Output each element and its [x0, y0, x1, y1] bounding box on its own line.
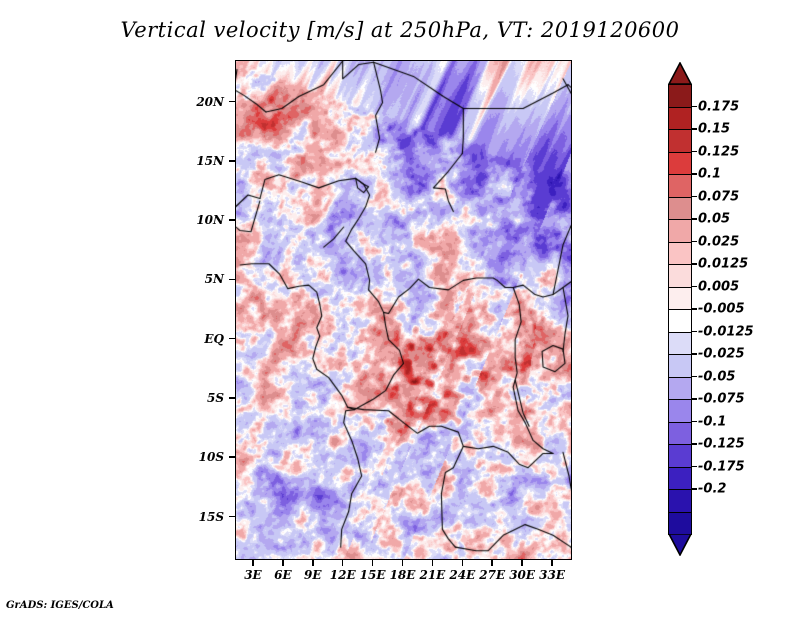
- colorbar-cell: [668, 512, 692, 536]
- colorbar-cell: [668, 287, 692, 311]
- longitude-tick-mark: [282, 560, 284, 566]
- longitude-tick-mark: [491, 560, 493, 566]
- colorbar-tick-mark: [692, 106, 697, 108]
- colorbar-cell: [668, 489, 692, 513]
- latitude-tick-label: 15N: [0, 154, 224, 168]
- colorbar-tick-label: -0.175: [698, 459, 745, 474]
- longitude-tick-label: 30E: [509, 568, 535, 582]
- longitude-tick-label: 24E: [449, 568, 475, 582]
- colorbar-tick-mark: [692, 173, 697, 175]
- colorbar-cell: [668, 219, 692, 243]
- longitude-tick-label: 3E: [244, 568, 262, 582]
- longitude-tick-mark: [342, 560, 344, 566]
- latitude-tick-label: 10N: [0, 213, 224, 227]
- latitude-tick-label: 20N: [0, 95, 224, 109]
- colorbar-tick-mark: [692, 331, 697, 333]
- latitude-tick-mark: [229, 516, 235, 518]
- colorbar-bottom-arrow: [668, 534, 692, 556]
- colorbar-tick-label: 0.025: [698, 234, 739, 249]
- colorbar-cell: [668, 399, 692, 423]
- colorbar-cell: [668, 152, 692, 176]
- colorbar-tick-mark: [692, 443, 697, 445]
- colorbar-cell: [668, 332, 692, 356]
- colorbar-cell: [668, 242, 692, 266]
- colorbar-tick-mark: [692, 398, 697, 400]
- longitude-tick-mark: [551, 560, 553, 566]
- longitude-tick-label: 21E: [419, 568, 445, 582]
- map-plot-area: [235, 60, 572, 560]
- colorbar-tick-mark: [692, 376, 697, 378]
- colorbar-tick-label: 0.1: [698, 167, 721, 182]
- colorbar-cell: [668, 129, 692, 153]
- colorbar-cell: [668, 422, 692, 446]
- colorbar-tick-mark: [692, 353, 697, 355]
- country-borders-overlay: [236, 61, 571, 559]
- longitude-tick-label: 15E: [360, 568, 386, 582]
- longitude-tick-mark: [372, 560, 374, 566]
- colorbar-cell: [668, 467, 692, 491]
- latitude-tick-label: 15S: [0, 510, 224, 524]
- colorbar-cell: [668, 197, 692, 221]
- colorbar-tick-label: 0.175: [698, 99, 739, 114]
- colorbar-cell: [668, 84, 692, 108]
- latitude-tick-label: 5S: [0, 391, 224, 405]
- longitude-tick-mark: [462, 560, 464, 566]
- longitude-tick-label: 12E: [330, 568, 356, 582]
- colorbar-tick-label: 0.005: [698, 279, 739, 294]
- grads-plot-page: Vertical velocity [m/s] at 250hPa, VT: 2…: [0, 0, 800, 618]
- colorbar-tick-label: -0.025: [698, 347, 745, 362]
- colorbar-tick-mark: [692, 466, 697, 468]
- colorbar-tick-mark: [692, 218, 697, 220]
- latitude-tick-label: 5N: [0, 272, 224, 286]
- latitude-tick-label: 10S: [0, 450, 224, 464]
- colorbar-tick-label: 0.0125: [698, 257, 748, 272]
- longitude-tick-label: 18E: [390, 568, 416, 582]
- colorbar-cell: [668, 309, 692, 333]
- grads-attribution: GrADS: IGES/COLA: [6, 600, 114, 611]
- colorbar-tick-label: -0.075: [698, 392, 745, 407]
- colorbar-tick-mark: [692, 241, 697, 243]
- colorbar-tick-mark: [692, 128, 697, 130]
- colorbar-tick-label: 0.125: [698, 144, 739, 159]
- colorbar-cell: [668, 174, 692, 198]
- colorbar-cell: [668, 354, 692, 378]
- longitude-tick-label: 33E: [539, 568, 565, 582]
- latitude-tick-mark: [229, 279, 235, 281]
- colorbar-tick-mark: [692, 196, 697, 198]
- page-title: Vertical velocity [m/s] at 250hPa, VT: 2…: [0, 18, 800, 42]
- latitude-tick-mark: [229, 160, 235, 162]
- longitude-tick-mark: [402, 560, 404, 566]
- colorbar-tick-label: -0.05: [698, 369, 735, 384]
- colorbar-tick-label: -0.125: [698, 437, 745, 452]
- colorbar-cell: [668, 264, 692, 288]
- colorbar-tick-mark: [692, 421, 697, 423]
- colorbar-tick-mark: [692, 308, 697, 310]
- latitude-tick-label: EQ: [0, 332, 224, 346]
- longitude-tick-mark: [312, 560, 314, 566]
- colorbar-tick-label: -0.005: [698, 302, 745, 317]
- latitude-tick-mark: [229, 456, 235, 458]
- colorbar-tick-label: 0.15: [698, 122, 730, 137]
- colorbar-tick-mark: [692, 263, 697, 265]
- colorbar-tick-mark: [692, 488, 697, 490]
- latitude-tick-mark: [229, 397, 235, 399]
- colorbar-tick-mark: [692, 151, 697, 153]
- latitude-tick-mark: [229, 219, 235, 221]
- latitude-tick-mark: [229, 101, 235, 103]
- colorbar-tick-mark: [692, 286, 697, 288]
- longitude-tick-label: 6E: [274, 568, 292, 582]
- colorbar-cell: [668, 107, 692, 131]
- colorbar-tick-label: 0.075: [698, 189, 739, 204]
- colorbar-tick-label: 0.05: [698, 212, 730, 227]
- longitude-tick-mark: [252, 560, 254, 566]
- colorbar-tick-label: -0.2: [698, 482, 726, 497]
- colorbar-cell: [668, 444, 692, 468]
- longitude-tick-mark: [521, 560, 523, 566]
- colorbar-legend: 0.1750.150.1250.10.0750.050.0250.01250.0…: [668, 62, 692, 556]
- colorbar-top-arrow: [668, 62, 692, 84]
- colorbar-cell: [668, 377, 692, 401]
- colorbar-tick-label: -0.1: [698, 414, 726, 429]
- longitude-tick-label: 9E: [304, 568, 322, 582]
- longitude-tick-label: 27E: [479, 568, 505, 582]
- longitude-tick-mark: [432, 560, 434, 566]
- latitude-tick-mark: [229, 338, 235, 340]
- colorbar-tick-label: -0.0125: [698, 324, 754, 339]
